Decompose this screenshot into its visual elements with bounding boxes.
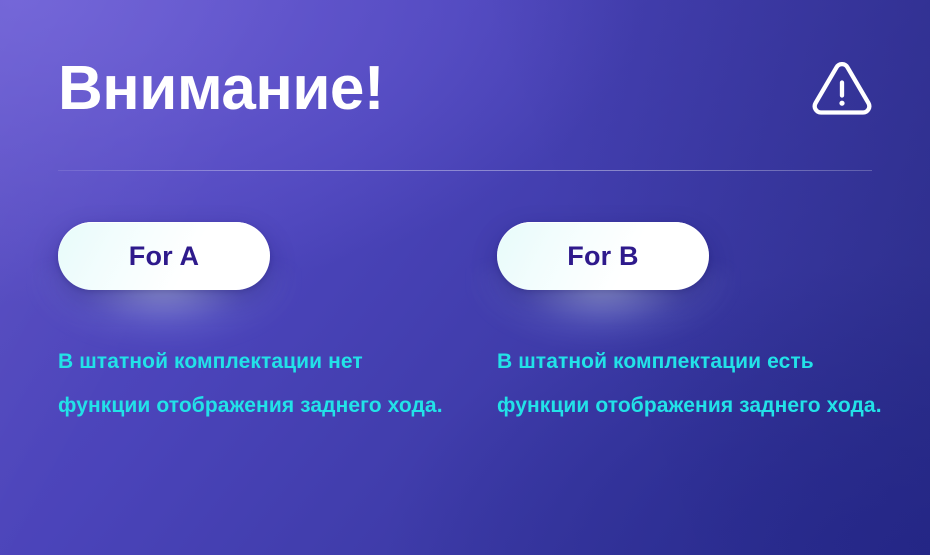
- warning-slide: Внимание! For A В штатной комплектации н…: [0, 0, 930, 555]
- header-divider: [58, 170, 872, 171]
- option-column-for-b: For B В штатной комплектации есть функци…: [497, 222, 897, 428]
- warning-triangle-icon: [812, 62, 872, 116]
- pill-wrapper-for-b: For B: [497, 222, 709, 290]
- slide-header: Внимание!: [58, 52, 872, 142]
- for-b-description: В штатной комплектации есть функции отоб…: [497, 340, 882, 428]
- for-b-button[interactable]: For B: [497, 222, 709, 290]
- for-b-button-label: For B: [567, 241, 639, 272]
- pill-wrapper-for-a: For A: [58, 222, 270, 290]
- for-a-description: В штатной комплектации нет функции отобр…: [58, 340, 448, 428]
- option-column-for-a: For A В штатной комплектации нет функции…: [58, 222, 458, 428]
- option-columns: For A В штатной комплектации нет функции…: [0, 222, 930, 482]
- page-title: Внимание!: [58, 52, 384, 126]
- for-a-button[interactable]: For A: [58, 222, 270, 290]
- for-a-button-label: For A: [129, 241, 200, 272]
